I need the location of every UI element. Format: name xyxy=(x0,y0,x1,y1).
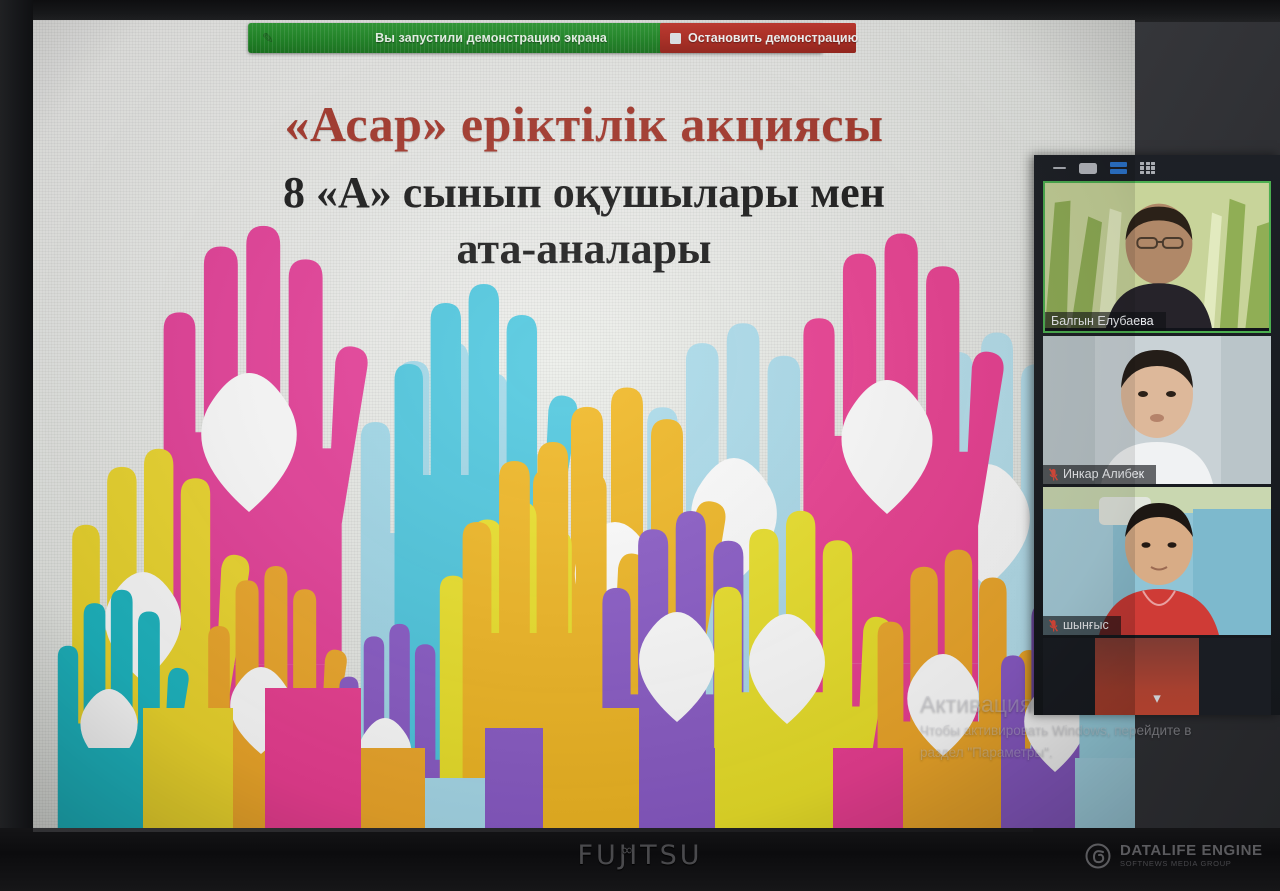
stop-square-icon xyxy=(670,33,681,44)
dle-title: DATALIFE ENGINE xyxy=(1120,843,1263,858)
maximize-icon[interactable] xyxy=(1079,163,1097,174)
screenshot-root: «Асар» еріктілік акциясы 8 «А» сынып оқу… xyxy=(0,0,1280,891)
mic-off-icon xyxy=(1049,468,1058,481)
participant-video xyxy=(1043,487,1271,635)
bezel-top xyxy=(0,0,1280,22)
mic-off-icon xyxy=(1049,619,1058,632)
speaker-view-icon[interactable] xyxy=(1110,162,1127,174)
slide-title: «Асар» еріктілік акциясы xyxy=(33,95,1135,153)
minimize-icon[interactable] xyxy=(1053,167,1066,170)
stop-share-label: Остановить демонстрацию xyxy=(688,31,858,45)
bezel-left xyxy=(0,0,33,891)
participant-name: Балгын Елубаева xyxy=(1051,314,1154,328)
participant-name-label: Инкар Алибек xyxy=(1043,465,1156,484)
datalife-engine-watermark: DATALIFE ENGINE SOFTNEWS MEDIA GROUP xyxy=(1085,843,1263,869)
participant-name-label: шынғыс xyxy=(1043,616,1121,635)
slide-subtitle-line-2: ата-аналары xyxy=(153,221,1015,277)
stop-share-button[interactable]: Остановить демонстрацию xyxy=(660,23,856,53)
participant-name: шынғыс xyxy=(1063,618,1109,632)
slide-subtitle: 8 «А» сынып оқушылары мен ата-аналары xyxy=(33,165,1135,278)
monitor-screen: «Асар» еріктілік акциясы 8 «А» сынып оқу… xyxy=(33,20,1135,828)
bezel-highlight xyxy=(33,828,1033,832)
slide-text-block: «Асар» еріктілік акциясы 8 «А» сынып оқу… xyxy=(33,95,1135,278)
dle-subtitle: SOFTNEWS MEDIA GROUP xyxy=(1120,858,1263,869)
dle-spiral-logo-icon xyxy=(1085,843,1111,869)
participant-video xyxy=(1045,183,1269,328)
slide-subtitle-line-1: 8 «А» сынып оқушылары мен xyxy=(153,165,1015,221)
zoom-participants-panel: Балгын Елубаева xyxy=(1034,155,1280,715)
gallery-grid-icon[interactable] xyxy=(1140,162,1155,175)
chevron-down-icon[interactable]: ▾ xyxy=(1034,689,1280,707)
zoom-window-controls xyxy=(1034,155,1280,181)
participant-name: Инкар Алибек xyxy=(1063,467,1144,481)
zoom-share-icon: ✎ xyxy=(257,30,279,47)
participant-name-label: Балгын Елубаева xyxy=(1045,312,1166,331)
screen-share-banner: ✎ Вы запустили демонстрацию экрана Остан… xyxy=(248,23,823,53)
participant-tile[interactable]: шынғыс xyxy=(1043,487,1271,635)
participant-video xyxy=(1043,336,1271,484)
screen-share-status: Вы запустили демонстрацию экрана xyxy=(279,31,703,45)
participant-tile[interactable]: Инкар Алибек xyxy=(1043,336,1271,484)
monitor-brand-text: FUJ∞ITSU xyxy=(577,840,702,871)
raised-hands-illustration xyxy=(33,188,1135,828)
participant-tile[interactable]: Балгын Елубаева xyxy=(1043,181,1271,333)
dle-text-block: DATALIFE ENGINE SOFTNEWS MEDIA GROUP xyxy=(1120,843,1263,869)
